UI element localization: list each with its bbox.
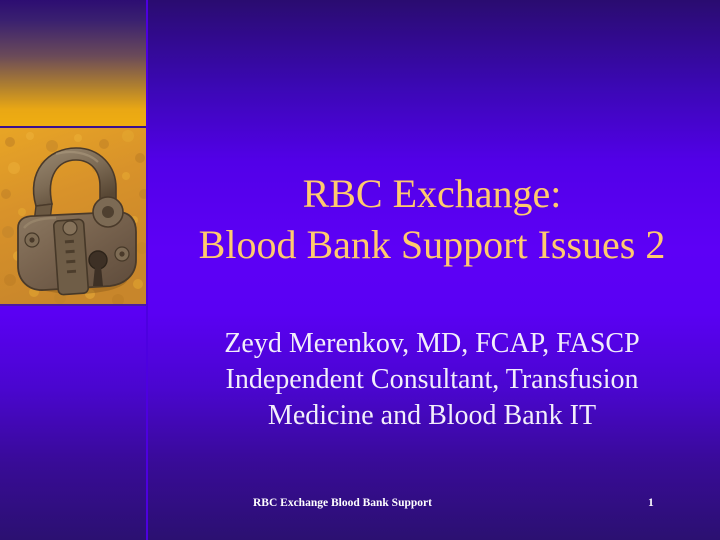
slide-title-line-1: RBC Exchange:: [152, 168, 712, 219]
sidebar-decorative-band: [0, 0, 148, 540]
footer-page-number: 1: [648, 493, 654, 513]
slide-subtitle: Zeyd Merenkov, MD, FCAP, FASCP Independe…: [152, 325, 712, 434]
sidebar-gradient-bottom: [0, 306, 148, 540]
padlock-photo: [0, 128, 148, 305]
subtitle-affiliation: Independent Consultant, Transfusion Medi…: [152, 362, 712, 434]
sidebar-right-edge: [146, 0, 148, 540]
sidebar-gradient-top: [0, 0, 148, 127]
presentation-slide: RBC Exchange: Blood Bank Support Issues …: [0, 0, 720, 540]
slide-title-line-2: Blood Bank Support Issues 2: [152, 219, 712, 270]
slide-title: RBC Exchange: Blood Bank Support Issues …: [152, 168, 712, 270]
padlock-icon: [0, 128, 148, 305]
slide-footer: RBC Exchange Blood Bank Support 1: [148, 493, 720, 513]
footer-title-text: RBC Exchange Blood Bank Support: [253, 493, 432, 513]
subtitle-author: Zeyd Merenkov, MD, FCAP, FASCP: [152, 325, 712, 362]
